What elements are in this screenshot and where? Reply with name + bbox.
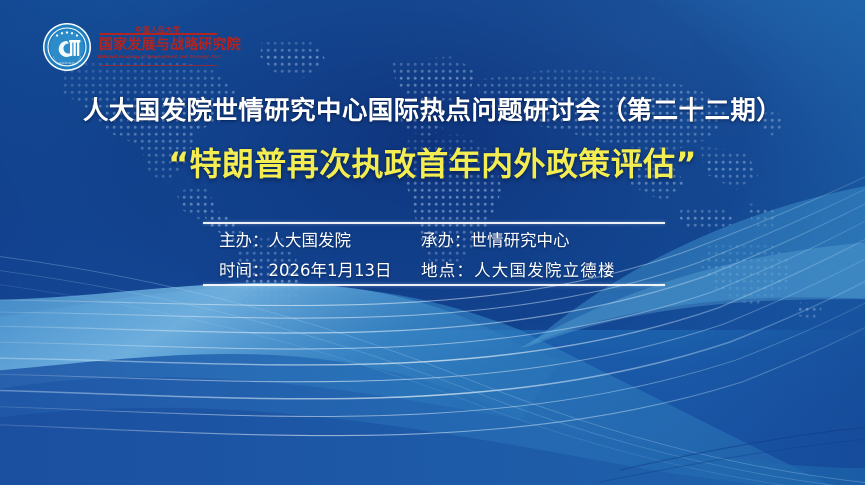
- info-row-organizers: 主办：人大国发院 承办：世情研究中心: [203, 224, 665, 254]
- info-organizer: 主办：人大国发院: [203, 227, 421, 251]
- conference-poster: NADS RUC 中国人民大学 国家发展与战略研究院 National Acad…: [0, 0, 865, 485]
- info-organizer-value: 人大国发院: [269, 231, 352, 250]
- info-venue: 地点：人大国发院立德楼: [421, 257, 665, 281]
- logo-wordmark: 中国人民大学 国家发展与战略研究院 National Academy of De…: [99, 26, 217, 68]
- info-venue-value: 人大国发院立德楼: [474, 261, 616, 280]
- logo-university-name-text: 中国人民大学: [133, 27, 184, 34]
- svg-text:NADS RUC: NADS RUC: [59, 61, 76, 65]
- event-info-block: 主办：人大国发院 承办：世情研究中心 时间：2026年1月13日 地点：人大国发…: [203, 222, 665, 286]
- info-co-organizer-label: 承办：: [421, 231, 471, 250]
- info-co-organizer: 承办：世情研究中心: [421, 227, 665, 251]
- info-time: 时间：2026年1月13日: [203, 257, 421, 281]
- ruc-seal-icon: NADS RUC: [42, 22, 92, 72]
- logo-institute-name: 国家发展与战略研究院: [99, 37, 217, 53]
- info-organizer-label: 主办：: [219, 231, 269, 250]
- logo-institute-name-en: National Academy of Development and Stra…: [98, 54, 218, 60]
- logo-university-name: 中国人民大学: [99, 26, 217, 35]
- institution-logo: NADS RUC 中国人民大学 国家发展与战略研究院 National Acad…: [42, 22, 217, 72]
- poster-title-sub: “特朗普再次执政首年内外政策评估”: [0, 139, 865, 185]
- poster-title-main: 人大国发院世情研究中心国际热点问题研讨会（第二十二期）: [0, 90, 865, 127]
- logo-rule-bottom: [99, 65, 217, 66]
- info-row-time-venue: 时间：2026年1月13日 地点：人大国发院立德楼: [203, 254, 665, 284]
- info-rule-bottom: [203, 284, 665, 286]
- info-co-organizer-value: 世情研究中心: [471, 231, 570, 250]
- info-time-value: 2026年1月13日: [269, 261, 392, 280]
- info-time-label: 时间：: [219, 261, 269, 280]
- info-venue-label: 地点：: [421, 261, 474, 280]
